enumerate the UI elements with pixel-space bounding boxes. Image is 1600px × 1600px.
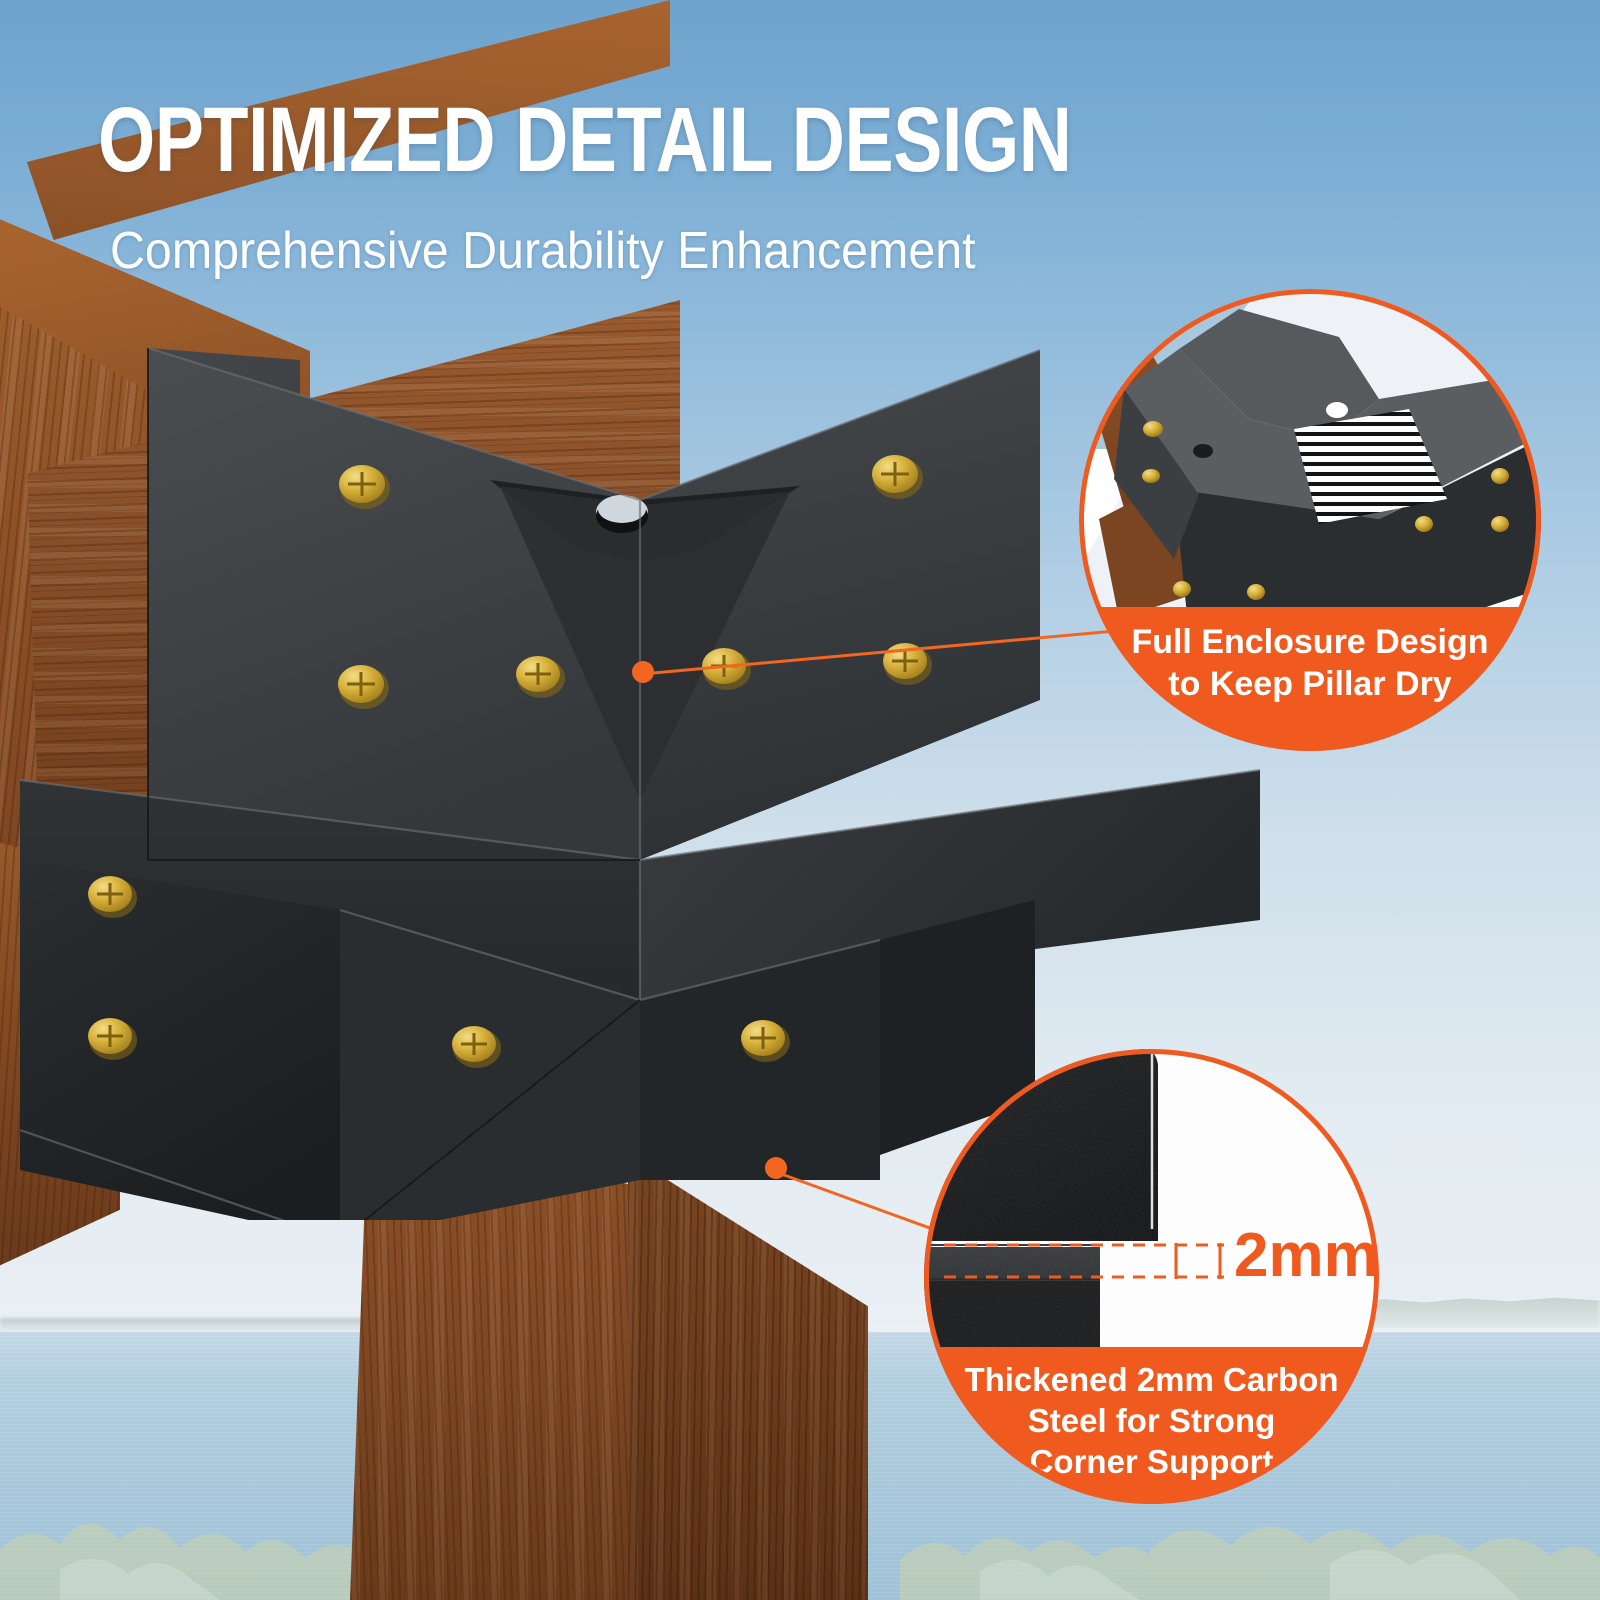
distant-shoreline-left [0, 1318, 420, 1332]
caption-line-3: Corner Support [1030, 1441, 1274, 1482]
dimension-label-2mm: 2mm [1234, 1225, 1379, 1287]
anchor-dot-full-enclosure [632, 661, 654, 683]
caption-line-2: to Keep Pillar Dry [1168, 663, 1451, 705]
page-subtitle: Comprehensive Durability Enhancement [110, 222, 976, 280]
caption-line-1: Thickened 2mm Carbon [964, 1359, 1338, 1400]
caption-line-1: Full Enclosure Design [1131, 621, 1488, 663]
anchor-dot-thickened-steel [765, 1157, 787, 1179]
callout-full-enclosure[interactable]: Full Enclosure Design to Keep Pillar Dry [1079, 289, 1541, 751]
product-marketing-image: OPTIMIZED DETAIL DESIGN Comprehensive Du… [0, 0, 1600, 1600]
callout-caption-full-enclosure: Full Enclosure Design to Keep Pillar Dry [1079, 607, 1541, 751]
caption-line-2: Steel for Strong [1028, 1400, 1276, 1441]
callout-thickened-steel[interactable]: 2mm Thickened 2mm Carbon Steel for Stron… [924, 1049, 1379, 1504]
callout-caption-thickened-steel: Thickened 2mm Carbon Steel for Strong Co… [924, 1347, 1379, 1504]
page-title: OPTIMIZED DETAIL DESIGN [98, 92, 1072, 188]
